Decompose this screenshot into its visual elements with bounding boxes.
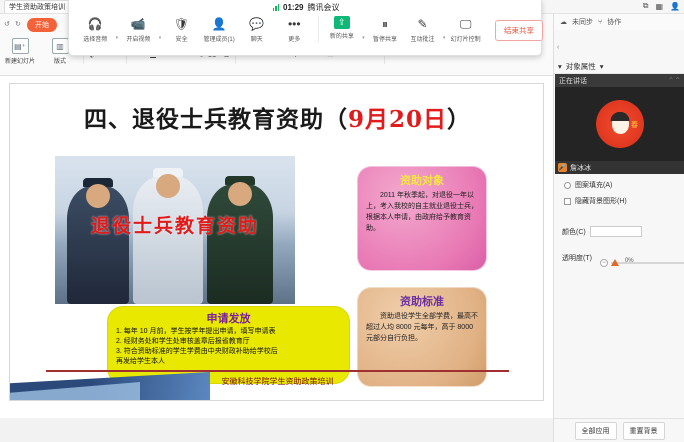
select-audio-label: 选择音频 xyxy=(83,34,107,43)
start-video-button[interactable]: 📹 开启视频 xyxy=(120,14,157,43)
slider-knob[interactable] xyxy=(611,259,619,266)
more-button[interactable]: ••• 更多 xyxy=(276,14,313,43)
slide-control-button[interactable]: 🖵 幻灯片控制 xyxy=(447,14,484,43)
hide-background-checkbox[interactable] xyxy=(564,198,571,205)
audio-caret-icon[interactable]: ▾ xyxy=(116,29,119,41)
slider-track[interactable]: 0% xyxy=(611,262,684,264)
background-options-form: 图案填充(A) 隐藏背景图形(H) 颜色(C) 透明度(T) − 0% xyxy=(554,177,684,270)
slide-title-date: 9月20日 xyxy=(348,106,447,133)
properties-dropdown-icon[interactable]: ▾ xyxy=(600,62,604,71)
right-panel: ☁ 未同步 ⑂ 协作 ‹ ▾ 对象属性 ▾ 正在讲话 ⌃⌃ 春 xyxy=(553,14,684,442)
slide-control-icon: 🖵 xyxy=(457,16,475,32)
start-tab[interactable]: 开始 xyxy=(27,18,57,32)
more-label: 更多 xyxy=(288,34,300,43)
layout-label: 版式 xyxy=(54,56,66,65)
color-swatch[interactable] xyxy=(590,226,642,237)
select-audio-button[interactable]: 🎧 选择音频 xyxy=(77,14,114,43)
video-caret-icon[interactable]: ▾ xyxy=(159,29,162,41)
camera-off-icon: 📹 xyxy=(129,16,147,32)
manage-members-button[interactable]: 👤 管理成员(1) xyxy=(201,14,238,43)
window-icon-group: ⧉ ▦ 👤 xyxy=(643,1,680,11)
meeting-timer: 01:29 xyxy=(283,3,303,12)
share-screen-icon: ⇪ xyxy=(334,16,350,29)
panel-caret-icon[interactable]: ▾ xyxy=(558,62,562,71)
panel-actions: 全部应用 重置背景 xyxy=(554,418,684,442)
shield-icon: 🛡 xyxy=(173,16,191,32)
members-icon: 👤 xyxy=(210,16,228,32)
soldier-figure-3 xyxy=(207,184,273,304)
pause-share-button[interactable]: ⏸ 暂停共享 xyxy=(367,14,404,43)
user-icon[interactable]: 👤 xyxy=(670,2,680,11)
chat-label: 聊天 xyxy=(251,34,263,43)
card-funding-standard-body: 资助退役学生全部学费，最高不超过人均 8000 元每年，高于 8000 元部分自… xyxy=(366,312,478,345)
people-icon[interactable]: ⑂ xyxy=(598,19,602,26)
cloud-icon[interactable]: ☁ xyxy=(560,18,567,26)
video-tile[interactable]: 正在讲话 ⌃⌃ 春 🎤 詹冰冰 xyxy=(555,74,684,174)
object-properties-header[interactable]: ▾ 对象属性 ▾ xyxy=(554,60,684,74)
security-button[interactable]: 🛡 安全 xyxy=(163,14,200,43)
slide-title-end: ） xyxy=(447,106,471,133)
object-properties-title: 对象属性 xyxy=(566,61,596,72)
color-label: 颜色(C) xyxy=(562,227,586,237)
new-slide-button[interactable]: ▤⁺ 新建幻灯片 xyxy=(0,38,40,65)
avatar-icon: 春 xyxy=(596,100,644,148)
meeting-controls: 🎧 选择音频 ▾ 📹 开启视频 ▾ 🛡 安全 👤 管理成员(1) 💬 聊天 xyxy=(69,14,543,56)
card-application-process[interactable]: 申请发放 1. 每年 10 月前，学生按学年提出申请，填写申请表 2. 经财务处… xyxy=(107,306,350,384)
participant-name: 詹冰冰 xyxy=(570,163,591,173)
video-tile-header: 正在讲话 ⌃⌃ xyxy=(555,74,684,87)
pause-share-label: 暂停共享 xyxy=(373,34,397,43)
panel-collapse-icon[interactable]: ‹ xyxy=(557,44,559,51)
meeting-divider xyxy=(318,16,319,42)
slide-editing-area: 四、退役士兵教育资助（9月20日） 退役士兵教育资助 资助对象 2011 年秋季… xyxy=(0,76,553,418)
reset-background-button[interactable]: 重置背景 xyxy=(623,422,665,440)
meeting-toolbar: 01:29 腾讯会议 🎧 选择音频 ▾ 📹 开启视频 ▾ 🛡 安全 👤 管理成员… xyxy=(68,0,542,56)
headset-icon: 🎧 xyxy=(86,16,104,32)
annotate-icon: ✎ xyxy=(414,16,432,32)
decrease-icon[interactable]: − xyxy=(600,259,608,267)
soldier-figure-2 xyxy=(133,176,203,304)
video-expand-icon[interactable]: ⌃⌃ xyxy=(668,76,681,85)
transparency-slider[interactable]: − 0% xyxy=(596,253,684,267)
more-icon: ••• xyxy=(285,16,303,32)
mic-icon[interactable]: 🎤 xyxy=(558,163,567,172)
card-funding-target-body: 2011 年秋季起，对退役一年以上，考入我校的自主就业退役士兵，根据本人申请，由… xyxy=(366,191,478,234)
annotate-label: 互动批注 xyxy=(411,34,435,43)
annotate-button[interactable]: ✎ 互动批注 xyxy=(404,14,441,43)
slide-footer-rule xyxy=(46,370,509,372)
card-application-line-3: 3. 符合资助标准的学生学费由中央财政补助给学校后 xyxy=(116,347,341,357)
end-share-button[interactable]: 结束共享 xyxy=(495,20,543,41)
collab-label[interactable]: 协作 xyxy=(607,17,621,27)
photo-overlay-text[interactable]: 退役士兵教育资助 xyxy=(55,211,295,238)
slide-title-main: 四、退役士兵教育资助（ xyxy=(84,106,348,133)
pause-icon: ⏸ xyxy=(376,16,394,32)
hide-background-label: 隐藏背景图形(H) xyxy=(575,196,627,206)
hide-background-option[interactable]: 隐藏背景图形(H) xyxy=(554,193,684,209)
document-tab[interactable]: 学生资助政策培训 xyxy=(4,0,72,13)
new-slide-label: 新建幻灯片 xyxy=(5,56,35,65)
card-application-line-1: 1. 每年 10 月前，学生按学年提出申请，填写申请表 xyxy=(116,327,341,337)
new-share-button[interactable]: ⇪ 新的共享 xyxy=(324,14,361,40)
card-funding-target-title: 资助对象 xyxy=(366,172,478,188)
apply-all-button[interactable]: 全部应用 xyxy=(575,422,617,440)
pattern-fill-radio[interactable] xyxy=(564,182,571,189)
undo-icon[interactable]: ↺ xyxy=(4,20,10,28)
card-application-line-2: 2. 经财务处和学生处审核盖章后报省教育厅 xyxy=(116,337,341,347)
sync-row: ☁ 未同步 ⑂ 协作 xyxy=(554,14,684,30)
manage-members-label: 管理成员(1) xyxy=(203,34,234,43)
transparency-label: 透明度(T) xyxy=(562,253,592,263)
card-funding-standard[interactable]: 资助标准 资助退役学生全部学费，最高不超过人均 8000 元每年，高于 8000… xyxy=(357,287,487,387)
annotate-caret-icon[interactable]: ▾ xyxy=(443,29,446,41)
meeting-app-name: 腾讯会议 xyxy=(307,2,339,13)
slide-canvas[interactable]: 四、退役士兵教育资助（9月20日） 退役士兵教育资助 资助对象 2011 年秋季… xyxy=(9,83,544,401)
wps-presentation-window: 学生资助政策培训 ⧉ ▦ 👤 ↺ ↻ 开始 ▤⁺ 新建幻灯片 ▥ 版式 xyxy=(0,0,684,442)
chat-icon: 💬 xyxy=(248,16,266,32)
video-tile-body: 春 xyxy=(555,87,684,161)
share-caret-icon[interactable]: ▾ xyxy=(362,29,365,41)
slide-control-label: 幻灯片控制 xyxy=(451,34,481,43)
dual-screen-icon[interactable]: ⧉ xyxy=(643,1,649,11)
video-tile-footer: 🎤 詹冰冰 xyxy=(555,161,684,174)
card-application-line-4: 再发给学生本人 xyxy=(116,357,341,367)
signal-icon xyxy=(273,4,280,11)
security-label: 安全 xyxy=(176,34,188,43)
sync-label[interactable]: 未同步 xyxy=(572,17,593,27)
transparency-row: 透明度(T) − 0% xyxy=(554,250,684,270)
card-funding-standard-title: 资助标准 xyxy=(366,293,478,309)
start-video-label: 开启视频 xyxy=(126,34,150,43)
chat-button[interactable]: 💬 聊天 xyxy=(238,14,275,43)
redo-icon[interactable]: ↻ xyxy=(15,20,21,28)
meeting-status: 01:29 腾讯会议 xyxy=(69,2,543,13)
pattern-fill-option[interactable]: 图案填充(A) xyxy=(554,177,684,193)
grid-icon[interactable]: ▦ xyxy=(655,2,663,11)
card-funding-target[interactable]: 资助对象 2011 年秋季起，对退役一年以上，考入我校的自主就业退役士兵，根据本… xyxy=(357,166,487,271)
transparency-value: 0% xyxy=(625,258,634,264)
slide-title[interactable]: 四、退役士兵教育资助（9月20日） xyxy=(10,100,544,134)
new-share-label: 新的共享 xyxy=(330,31,354,40)
layout-icon: ▥ xyxy=(52,38,69,54)
card-application-title: 申请发放 xyxy=(116,310,341,326)
speaking-label: 正在讲话 xyxy=(559,76,587,86)
pattern-fill-label: 图案填充(A) xyxy=(575,180,612,190)
new-slide-icon: ▤⁺ xyxy=(12,38,29,54)
soldier-figure-1 xyxy=(67,186,129,304)
color-row: 颜色(C) xyxy=(554,223,684,240)
